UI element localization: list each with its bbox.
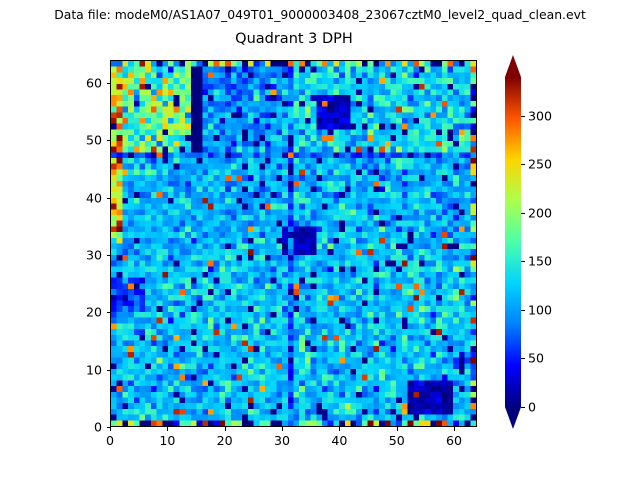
y-tick-label: 20: [70, 305, 102, 320]
y-tick-label: 50: [70, 133, 102, 148]
x-tick-mark: [225, 427, 226, 431]
y-tick-label: 60: [70, 75, 102, 90]
detector-plane-heatmap: [111, 61, 476, 426]
x-tick-label: 40: [331, 433, 347, 448]
matplotlib-figure: Data file: modeM0/AS1A07_049T01_90000034…: [0, 0, 640, 480]
colorbar-tick-mark: [521, 116, 525, 117]
x-tick-mark: [282, 427, 283, 431]
colorbar-tick-label: 250: [528, 157, 552, 172]
y-tick-label: 40: [70, 190, 102, 205]
colorbar-tick-mark: [521, 407, 525, 408]
y-tick-mark: [107, 198, 111, 199]
colorbar-tick-mark: [521, 213, 525, 214]
colorbar-tick-label: 100: [528, 302, 552, 317]
y-tick-mark: [107, 83, 111, 84]
x-tick-label: 10: [159, 433, 175, 448]
y-tick-label: 0: [70, 420, 102, 435]
x-tick-mark: [167, 427, 168, 431]
axes-title: Quadrant 3 DPH: [110, 31, 478, 47]
y-tick-mark: [107, 370, 111, 371]
colorbar-tick-mark: [521, 358, 525, 359]
colorbar-tick-label: 0: [528, 400, 536, 415]
x-tick-label: 50: [389, 433, 405, 448]
colorbar-tick-mark: [521, 261, 525, 262]
y-tick-mark: [107, 427, 111, 428]
y-tick-mark: [107, 312, 111, 313]
x-tick-mark: [397, 427, 398, 431]
figure-suptitle: Data file: modeM0/AS1A07_049T01_90000034…: [0, 7, 640, 22]
x-tick-label: 30: [274, 433, 290, 448]
y-tick-mark: [107, 255, 111, 256]
x-tick-label: 0: [106, 433, 114, 448]
colorbar-over-arrow: [505, 55, 521, 77]
colorbar-tick-label: 150: [528, 254, 552, 269]
colorbar-tick-mark: [521, 310, 525, 311]
x-tick-mark: [339, 427, 340, 431]
x-tick-mark: [454, 427, 455, 431]
y-tick-label: 30: [70, 247, 102, 262]
heatmap-axes: [110, 60, 477, 427]
y-tick-label: 10: [70, 362, 102, 377]
y-tick-mark: [107, 140, 111, 141]
colorbar-under-arrow: [505, 407, 521, 429]
x-tick-label: 60: [446, 433, 462, 448]
colorbar-tick-label: 200: [528, 205, 552, 220]
colorbar-tick-mark: [521, 164, 525, 165]
colorbar: 050100150200250300: [504, 55, 564, 435]
colorbar-tick-label: 300: [528, 108, 552, 123]
colorbar-tick-label: 50: [528, 351, 544, 366]
x-tick-mark: [110, 427, 111, 431]
x-tick-label: 20: [217, 433, 233, 448]
